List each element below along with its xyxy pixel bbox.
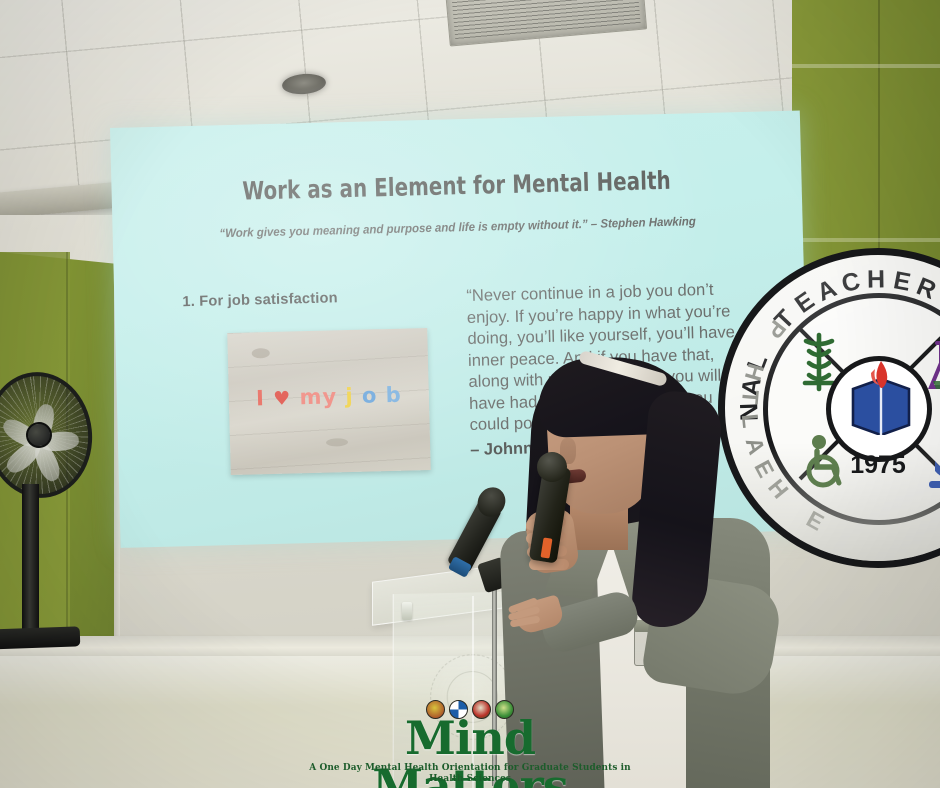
mind-matters-logo: Mind Matters A One Day Mental Health Ori… <box>303 700 637 772</box>
word-my: my <box>299 384 337 409</box>
fan-cage <box>0 367 98 503</box>
slide-list-item-1: 1. For job satisfaction <box>182 290 338 310</box>
panel-rail <box>792 238 940 242</box>
fan-base <box>0 626 80 649</box>
letter-o: o <box>362 383 378 407</box>
photo-scene: Work as an Element for Mental Health “Wo… <box>0 0 940 788</box>
slide-title: Work as an Element for Mental Health <box>153 164 761 208</box>
foam-letter-text: I ♥ my j o b <box>229 384 429 410</box>
heart-icon: ♥ <box>273 388 292 410</box>
book-flame-icon <box>845 359 915 435</box>
fan-pole <box>22 484 39 636</box>
pedestal-fan <box>0 372 104 662</box>
letter-b: b <box>385 383 402 407</box>
letter-j: j <box>345 384 354 408</box>
podium-clip <box>402 602 412 620</box>
letter-i: I <box>256 386 265 410</box>
slide-image-i-love-my-job: I ♥ my j o b <box>227 328 431 475</box>
slide-subtitle: “Work gives you meaning and purpose and … <box>133 212 782 242</box>
wood-knot <box>252 348 270 358</box>
panel-rail <box>792 64 940 68</box>
wood-knot <box>326 438 348 447</box>
logo-subtitle: A One Day Mental Health Orientation for … <box>308 762 632 784</box>
